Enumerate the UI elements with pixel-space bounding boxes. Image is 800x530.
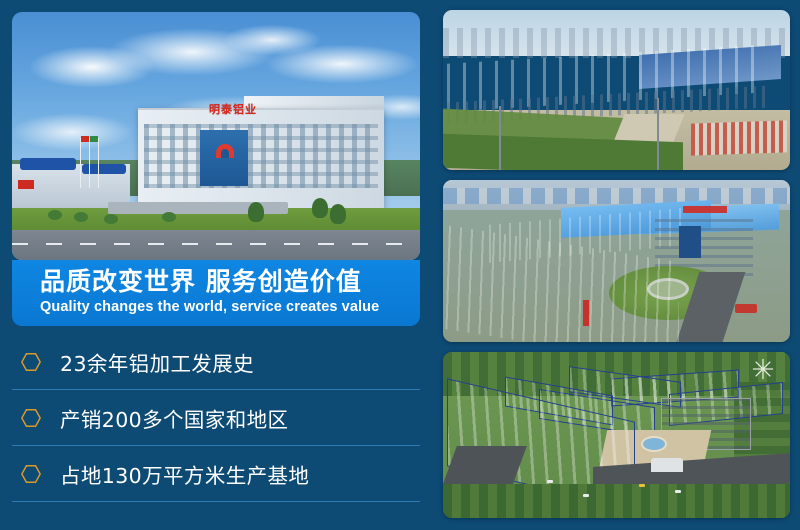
- building-entrance-glass: [200, 130, 248, 186]
- list-item-label: 23余年铝加工发展史: [60, 347, 254, 377]
- foreground-road: [12, 230, 420, 260]
- feature-list: 23余年铝加工发展史 产销200多个国家和地区 占地130万平方米生产基地: [12, 334, 420, 502]
- parking-lot: [691, 120, 787, 155]
- list-item: 产销200多个国家和地区: [12, 390, 420, 446]
- vehicle: [639, 484, 645, 487]
- tree: [312, 198, 328, 218]
- vehicle: [735, 304, 757, 313]
- slogan-banner: 品质改变世界 服务创造价值 Quality changes the world,…: [12, 260, 420, 326]
- slogan-english: Quality changes the world, service creat…: [40, 297, 420, 317]
- vehicle: [583, 494, 589, 497]
- list-item: 占地130万平方米生产基地: [12, 446, 420, 502]
- power-pylon: [657, 98, 659, 170]
- foreground-forest: [443, 484, 790, 518]
- facility-photo-middle: [443, 180, 790, 342]
- vehicle: [547, 480, 553, 483]
- building-sign: 明泰铝业: [198, 102, 268, 115]
- left-column: 明泰铝业 品质改变世界 服务创造价值 Quality changes the w…: [12, 12, 420, 518]
- vehicle: [675, 490, 681, 493]
- facility-photo-top: [443, 10, 790, 170]
- sun-flare-icon: [752, 358, 774, 380]
- hexagon-icon: [20, 407, 42, 429]
- distant-workshop-roofs: [443, 188, 790, 204]
- side-building-red-sign: [18, 180, 34, 189]
- site-gatehouse: [651, 458, 683, 472]
- list-item-label: 占地130万平方米生产基地: [60, 459, 309, 489]
- side-building-blue-roof: [20, 158, 76, 170]
- tree: [248, 202, 264, 222]
- shrub: [162, 212, 176, 222]
- slogan-chinese: 品质改变世界 服务创造价值: [40, 267, 420, 297]
- office-tower-sign: [683, 206, 727, 213]
- plaza-fountain: [641, 436, 667, 452]
- list-item-label: 产销200多个国家和地区: [60, 403, 288, 433]
- shrub: [74, 212, 88, 222]
- main-office-building: [138, 108, 384, 210]
- hexagon-icon: [20, 463, 42, 485]
- tree: [330, 204, 346, 224]
- right-column: [443, 10, 790, 520]
- shrub: [48, 210, 62, 220]
- facility-rendering-bottom: [443, 352, 790, 518]
- red-banner-sign: [583, 300, 589, 326]
- power-pylon: [499, 106, 501, 170]
- flagpoles: [80, 134, 102, 188]
- company-logo-mark-icon: [216, 144, 234, 158]
- hexagon-icon: [20, 351, 42, 373]
- hero-photo: 明泰铝业: [12, 12, 420, 260]
- list-item: 23余年铝加工发展史: [12, 334, 420, 390]
- shrub: [104, 214, 118, 224]
- office-tower-entrance: [679, 226, 701, 258]
